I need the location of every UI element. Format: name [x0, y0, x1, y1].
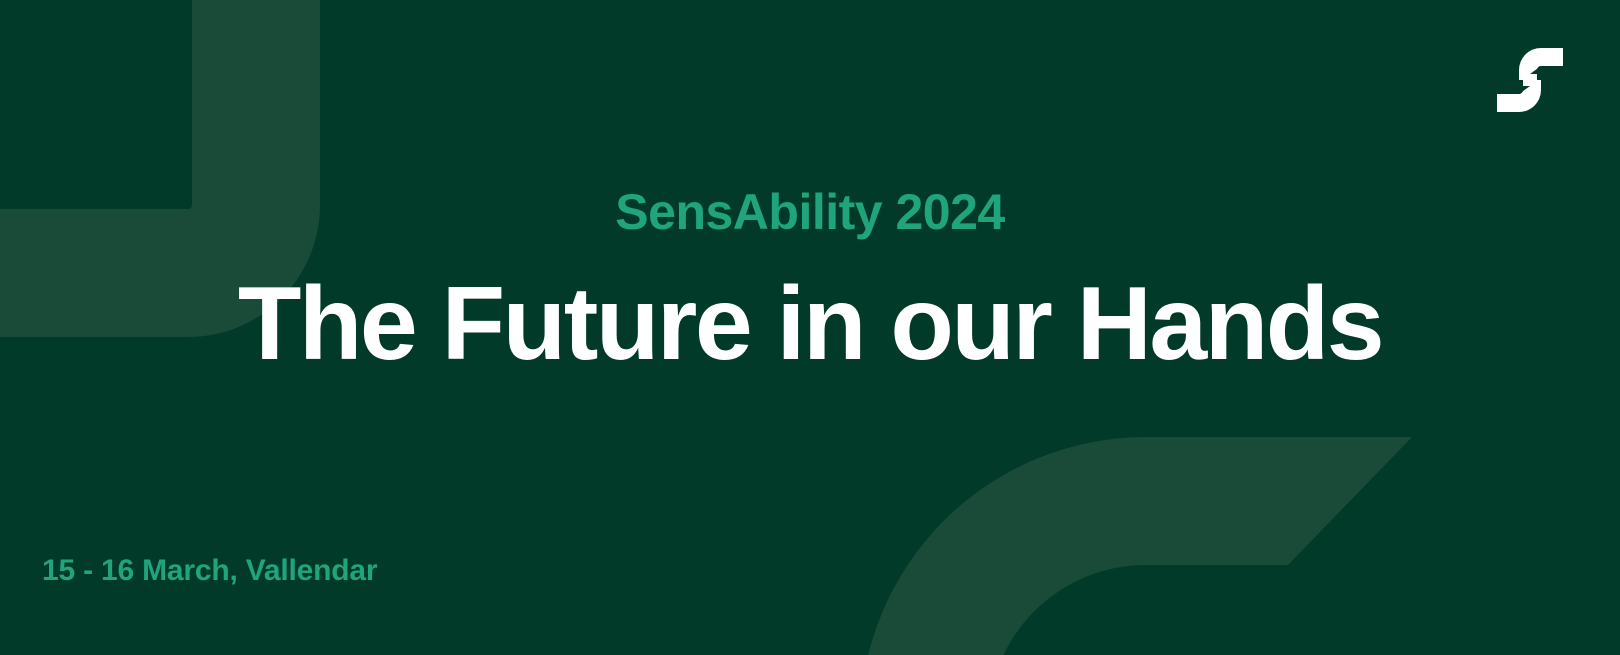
event-date-location: 15 - 16 March, Vallendar: [42, 553, 377, 589]
sensability-logo-icon: [1497, 47, 1563, 113]
logo-upper-hook: [1519, 48, 1563, 80]
logo-lower-hook: [1497, 80, 1541, 112]
event-banner: SensAbility 2024 The Future in our Hands…: [0, 0, 1620, 655]
